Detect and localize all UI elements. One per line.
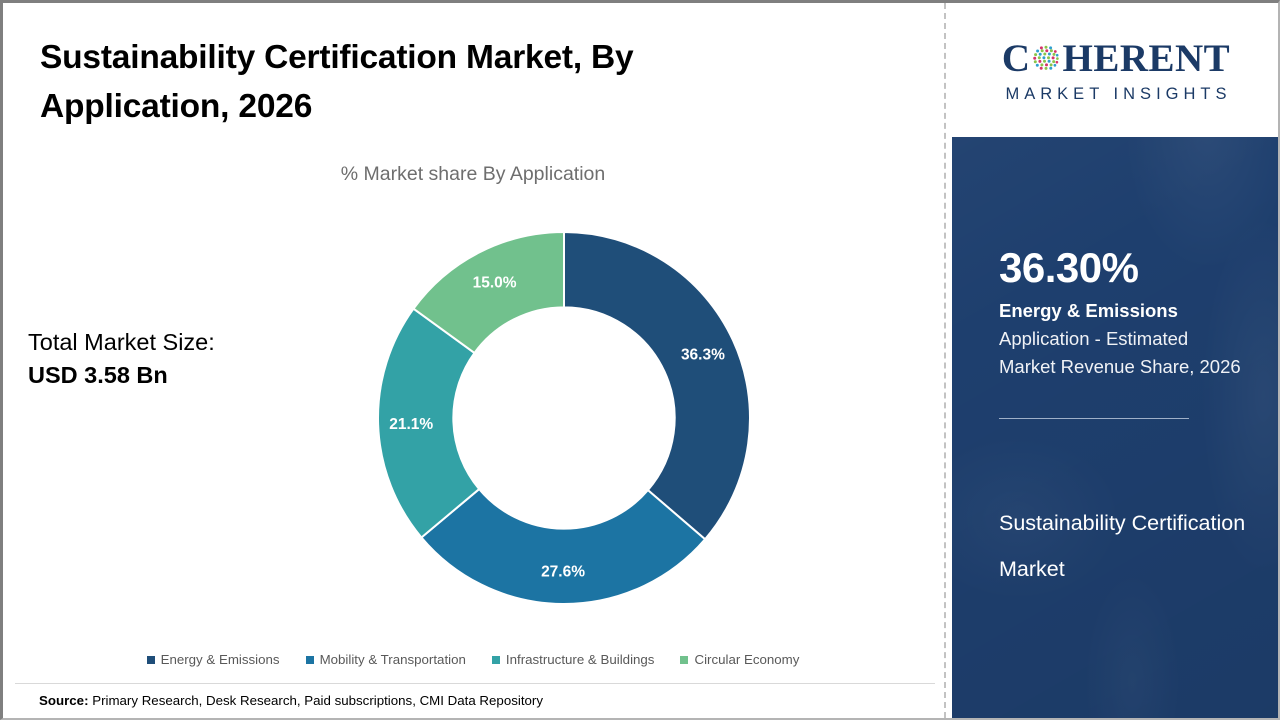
page-title: Sustainability Certification Market, By …	[40, 33, 800, 131]
chart-subtitle: % Market share By Application	[3, 163, 943, 186]
total-market-size-label: Total Market Size:	[28, 326, 215, 359]
infographic-page: Sustainability Certification Market, By …	[0, 0, 1280, 720]
donut-slice-label: 36.3%	[681, 347, 725, 364]
sidebar-market-name: Sustainability Certification Market	[999, 501, 1249, 592]
donut-slice[interactable]	[564, 232, 750, 539]
logo-word-right: HERENT	[1062, 39, 1230, 78]
stat-divider	[999, 418, 1189, 419]
source-text: Primary Research, Desk Research, Paid su…	[89, 693, 543, 708]
source-label: Source:	[39, 693, 89, 708]
highlight-stat-block: 36.30% Energy & Emissions Application - …	[999, 246, 1249, 419]
logo-wordmark-row: C	[1002, 36, 1230, 80]
legend-label: Mobility & Transportation	[320, 652, 466, 667]
donut-slice[interactable]	[421, 489, 705, 604]
stat-description: Application - Estimated Market Revenue S…	[999, 325, 1249, 381]
legend-swatch-icon	[680, 656, 688, 664]
total-market-size-block: Total Market Size: USD 3.58 Bn	[28, 326, 215, 393]
legend-item[interactable]: Circular Economy	[680, 652, 799, 667]
donut-slice-group	[378, 232, 750, 604]
donut-slice-label: 15.0%	[473, 274, 517, 291]
logo-subtitle: MARKET INSIGHTS	[1001, 85, 1232, 104]
chart-legend: Energy & EmissionsMobility & Transportat…	[3, 652, 943, 667]
logo-word-left: C	[1002, 39, 1031, 78]
legend-item[interactable]: Energy & Emissions	[147, 652, 280, 667]
vertical-dashed-divider	[944, 3, 946, 718]
main-content-panel: Sustainability Certification Market, By …	[3, 3, 945, 718]
legend-label: Circular Economy	[694, 652, 799, 667]
sidebar-panel: C	[952, 3, 1280, 718]
source-line: Source: Primary Research, Desk Research,…	[39, 693, 543, 708]
legend-swatch-icon	[306, 656, 314, 664]
legend-swatch-icon	[492, 656, 500, 664]
legend-swatch-icon	[147, 656, 155, 664]
legend-label: Energy & Emissions	[161, 652, 280, 667]
donut-chart-svg: 36.3%27.6%21.1%15.0%	[378, 232, 750, 604]
footer-divider	[15, 683, 935, 684]
stat-label: Energy & Emissions	[999, 299, 1249, 324]
donut-slice-label: 27.6%	[541, 563, 585, 580]
globe-dot-matrix-icon	[1031, 43, 1061, 73]
stat-value: 36.30%	[999, 246, 1249, 290]
total-market-size-value: USD 3.58 Bn	[28, 359, 215, 392]
legend-item[interactable]: Mobility & Transportation	[306, 652, 466, 667]
legend-label: Infrastructure & Buildings	[506, 652, 655, 667]
legend-item[interactable]: Infrastructure & Buildings	[492, 652, 655, 667]
brand-logo: C	[952, 3, 1280, 137]
donut-slice-label: 21.1%	[389, 416, 433, 433]
donut-chart: 36.3%27.6%21.1%15.0%	[378, 232, 750, 604]
